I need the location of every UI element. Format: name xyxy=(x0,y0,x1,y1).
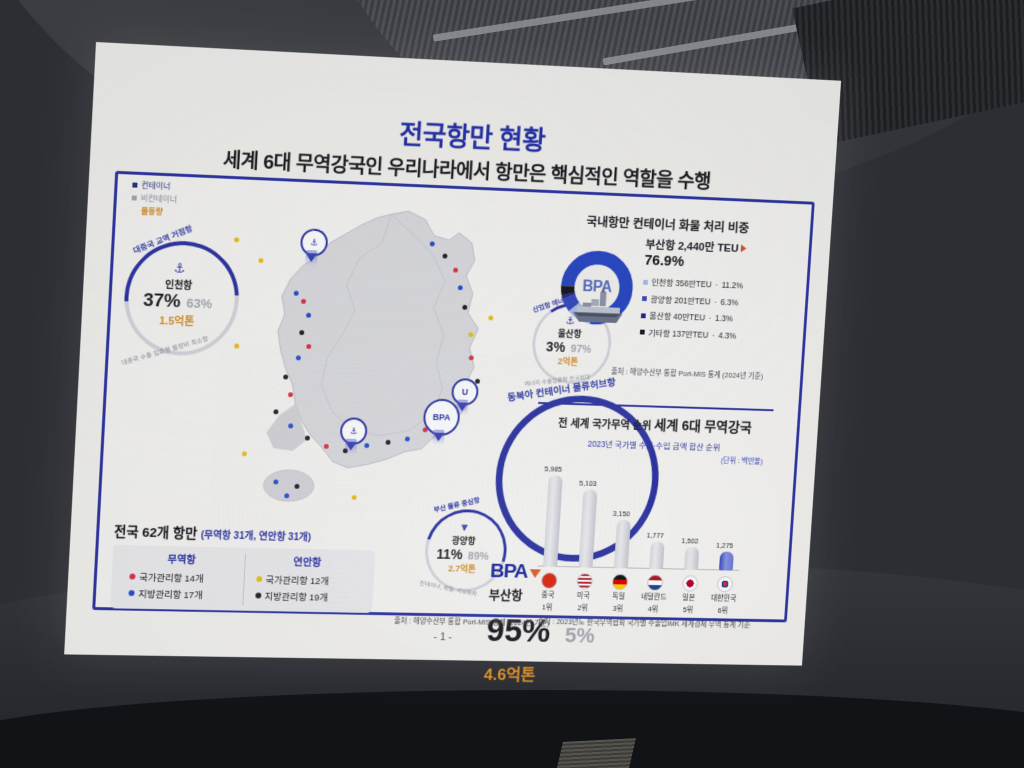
flag-icon-usa xyxy=(576,573,593,589)
container-ship-illustration xyxy=(569,288,627,327)
bar-value-usa: 5,103 xyxy=(579,479,597,488)
country-label-netherlands: 네덜란드 4위 xyxy=(637,591,670,614)
gwangyang-volume: 2.7억톤 xyxy=(448,561,476,574)
flag-icon-germany xyxy=(612,574,629,590)
container-share-donut: BPA xyxy=(554,245,640,331)
bar-value-netherlands: 1,777 xyxy=(646,531,664,540)
legend-swatch-ulsan xyxy=(641,313,646,318)
dot-icon-local-coastal xyxy=(255,593,261,599)
ports-count-panel: 전국 62개 항만 (무역항 31개, 연안항 31개) 무역항 국가관리항 1… xyxy=(110,520,377,613)
country-label-korea: 대한민국 6위 xyxy=(707,593,740,616)
trade-rank-panel: 전 세계 국가무역 순위 세계 6대 무역강국 2023년 국가별 수출·수입 … xyxy=(523,411,774,616)
floor-vent xyxy=(556,738,636,768)
dot-icon-national-coastal xyxy=(256,576,262,582)
bar-netherlands xyxy=(649,541,665,569)
flag-icon-japan xyxy=(682,575,699,591)
ports-col-trade-title: 무역항 xyxy=(120,551,243,568)
country-label-china: 중국 1위 xyxy=(531,589,564,612)
trade-rank-title-small: 전 세계 국가무역 순위 xyxy=(558,418,652,432)
chart-axis xyxy=(537,566,739,571)
dot-icon-national-trade xyxy=(129,574,135,580)
ports-count-box: 무역항 국가관리항 14개 지방관리항 17개 연안항 국가관리항 12개 xyxy=(110,545,375,613)
teu-value-other: 4.3% xyxy=(718,330,736,340)
country-name-germany: 독일 xyxy=(603,591,635,602)
map-pin-gwangyang[interactable]: ⚓ xyxy=(339,417,364,447)
bar-value-korea: 1,275 xyxy=(716,541,734,550)
teu-legend-row: 기타항 137만TEU · 4.3% xyxy=(640,326,779,342)
ports-count-headline-main: 전국 62개 항만 xyxy=(114,524,198,541)
ports-label-coastal-national: 국가관리항 12개 xyxy=(265,572,329,587)
legend-swatch-other xyxy=(640,330,645,335)
teu-legend-row: 인천항 356만TEU · 11.2% xyxy=(643,276,782,293)
ports-count-headline-note: (무역항 31개, 연안항 31개) xyxy=(200,530,311,543)
gwangyang-name: 광양항 xyxy=(452,534,476,547)
dot-icon-local-trade xyxy=(128,590,134,596)
teu-label-ulsan: 울산항 40만TEU xyxy=(649,310,705,323)
country-rank-japan: 5위 xyxy=(672,604,704,615)
country-rank-china: 1위 xyxy=(531,602,563,613)
teu-value-ulsan: 1.3% xyxy=(715,313,733,323)
teu-value-gwangyang: 6.3% xyxy=(720,297,738,307)
ports-row-trade-national: 국가관리항 14개 xyxy=(129,570,242,586)
bar-korea xyxy=(719,552,734,571)
incheon-container-pct: 37% xyxy=(143,290,182,313)
ports-row-coastal-national: 국가관리항 12개 xyxy=(256,572,367,588)
country-name-china: 중국 xyxy=(532,589,564,600)
country-label-usa: 미국 2위 xyxy=(566,590,599,613)
country-name-korea: 대한민국 xyxy=(708,593,740,604)
ports-col-coastal: 연안항 국가관리항 12개 지방관리항 19개 xyxy=(245,554,368,608)
container-share-source: 출처 : 해양수산부 통합 Port-MIS 통계 (2024년 기준) xyxy=(594,365,779,382)
gwangyang-container-pct: 11% xyxy=(436,546,463,562)
korea-map-shape xyxy=(228,198,534,527)
teu-value-incheon: 11.2% xyxy=(721,280,743,290)
bar-germany xyxy=(614,520,631,569)
map-pin-incheon[interactable]: ⚓ xyxy=(300,228,325,258)
trade-rank-title-big: 세계 6대 무역강국 xyxy=(654,417,752,435)
teu-label-other: 기타항 137만TEU xyxy=(648,327,709,341)
container-share-panel: 국내항만 컨테이너 화물 처리 비중 BPA 부산항 xyxy=(537,209,788,400)
port-gauge-incheon: 대중국 교역 거점항 ⚓ 인천항 37% 63% 1.5억톤 대중국 수출 입화… xyxy=(122,239,234,349)
ports-row-trade-local: 지방관리항 17개 xyxy=(128,586,241,602)
teu-legend-row: 울산항 40만TEU · 1.3% xyxy=(641,310,780,327)
country-name-netherlands: 네덜란드 xyxy=(638,591,670,602)
incheon-name: 인천항 xyxy=(165,276,193,292)
country-name-japan: 일본 xyxy=(673,592,705,603)
ports-row-coastal-local: 지방관리항 19개 xyxy=(255,589,366,605)
teu-label-incheon: 인천항 356만TEU xyxy=(651,276,712,290)
country-label-germany: 독일 3위 xyxy=(602,591,635,614)
incheon-port-icon: ⚓ xyxy=(173,260,185,276)
gwangyang-port-icon: ⩔ xyxy=(461,521,468,534)
bar-japan xyxy=(684,547,699,570)
legend-label-noncontainer: 비컨테이너 xyxy=(140,193,177,205)
country-name-usa: 미국 xyxy=(567,590,599,601)
trade-rank-bar-chart: 5,985 5,103 3,150 1,777 1,502 1,275 xyxy=(537,467,745,570)
country-rank-usa: 2위 xyxy=(566,602,598,613)
projection-screen: 전국항만 현황 세계 6대 무역강국인 우리나라에서 항만은 핵심적인 역할을 … xyxy=(64,42,841,666)
incheon-noncontainer-pct: 63% xyxy=(186,295,212,311)
legend-label-volume: 물동량 xyxy=(141,206,163,218)
triangle-icon xyxy=(740,244,746,252)
legend-swatch-gwangyang xyxy=(642,296,647,301)
ports-col-trade: 무역항 국가관리항 14개 지방관리항 17개 xyxy=(118,551,243,605)
bar-china xyxy=(543,475,563,567)
incheon-volume: 1.5억톤 xyxy=(159,312,195,329)
legend-swatch-container xyxy=(132,183,137,188)
trade-rank-subtitle: 2023년 국가별 수출·수입 금액 합산 순위 xyxy=(534,436,774,454)
country-rank-korea: 6위 xyxy=(707,605,739,616)
trade-rank-unit: (단위 : 백만불) xyxy=(721,455,764,467)
container-share-headline: 부산항 2,440만 TEU76.9% xyxy=(644,237,785,274)
flag-icon-china xyxy=(541,572,558,588)
teu-legend-row: 광양항 201만TEU · 6.3% xyxy=(642,293,781,310)
legend-swatch-incheon xyxy=(643,279,648,284)
bar-value-china: 5,985 xyxy=(544,464,562,473)
bar-value-japan: 1,502 xyxy=(681,536,699,545)
ports-label-trade-local: 지방관리항 17개 xyxy=(138,586,203,601)
country-rank-netherlands: 4위 xyxy=(637,604,669,615)
legend-label-container: 컨테이너 xyxy=(141,180,171,192)
korea-map: ⚓ ⚓ BPA U xyxy=(228,198,534,527)
ports-label-trade-national: 국가관리항 14개 xyxy=(139,570,204,585)
bar-value-germany: 3,150 xyxy=(612,509,630,518)
teu-label-gwangyang: 광양항 201만TEU xyxy=(650,293,711,307)
busan-teu-value: 76.9% xyxy=(644,252,685,270)
map-pin-ulsan[interactable]: U xyxy=(451,378,476,408)
flag-icon-netherlands xyxy=(647,575,664,591)
floor xyxy=(0,690,1024,768)
bar-usa xyxy=(579,489,598,567)
legend-swatch-noncontainer xyxy=(132,195,137,200)
busan-volume: 4.6억톤 xyxy=(483,661,634,687)
legend-item-volume: 물동량 xyxy=(141,206,222,220)
country-rank-germany: 3위 xyxy=(602,603,634,614)
presentation-slide: 전국항만 현황 세계 6대 무역강국인 우리나라에서 항만은 핵심적인 역할을 … xyxy=(64,42,841,666)
gwangyang-noncontainer-pct: 89% xyxy=(468,550,489,562)
ports-label-coastal-local: 지방관리항 19개 xyxy=(264,589,328,604)
flag-icon-korea xyxy=(717,576,734,592)
ports-col-coastal-title: 연안항 xyxy=(247,554,368,571)
country-label-japan: 일본 5위 xyxy=(672,592,705,615)
